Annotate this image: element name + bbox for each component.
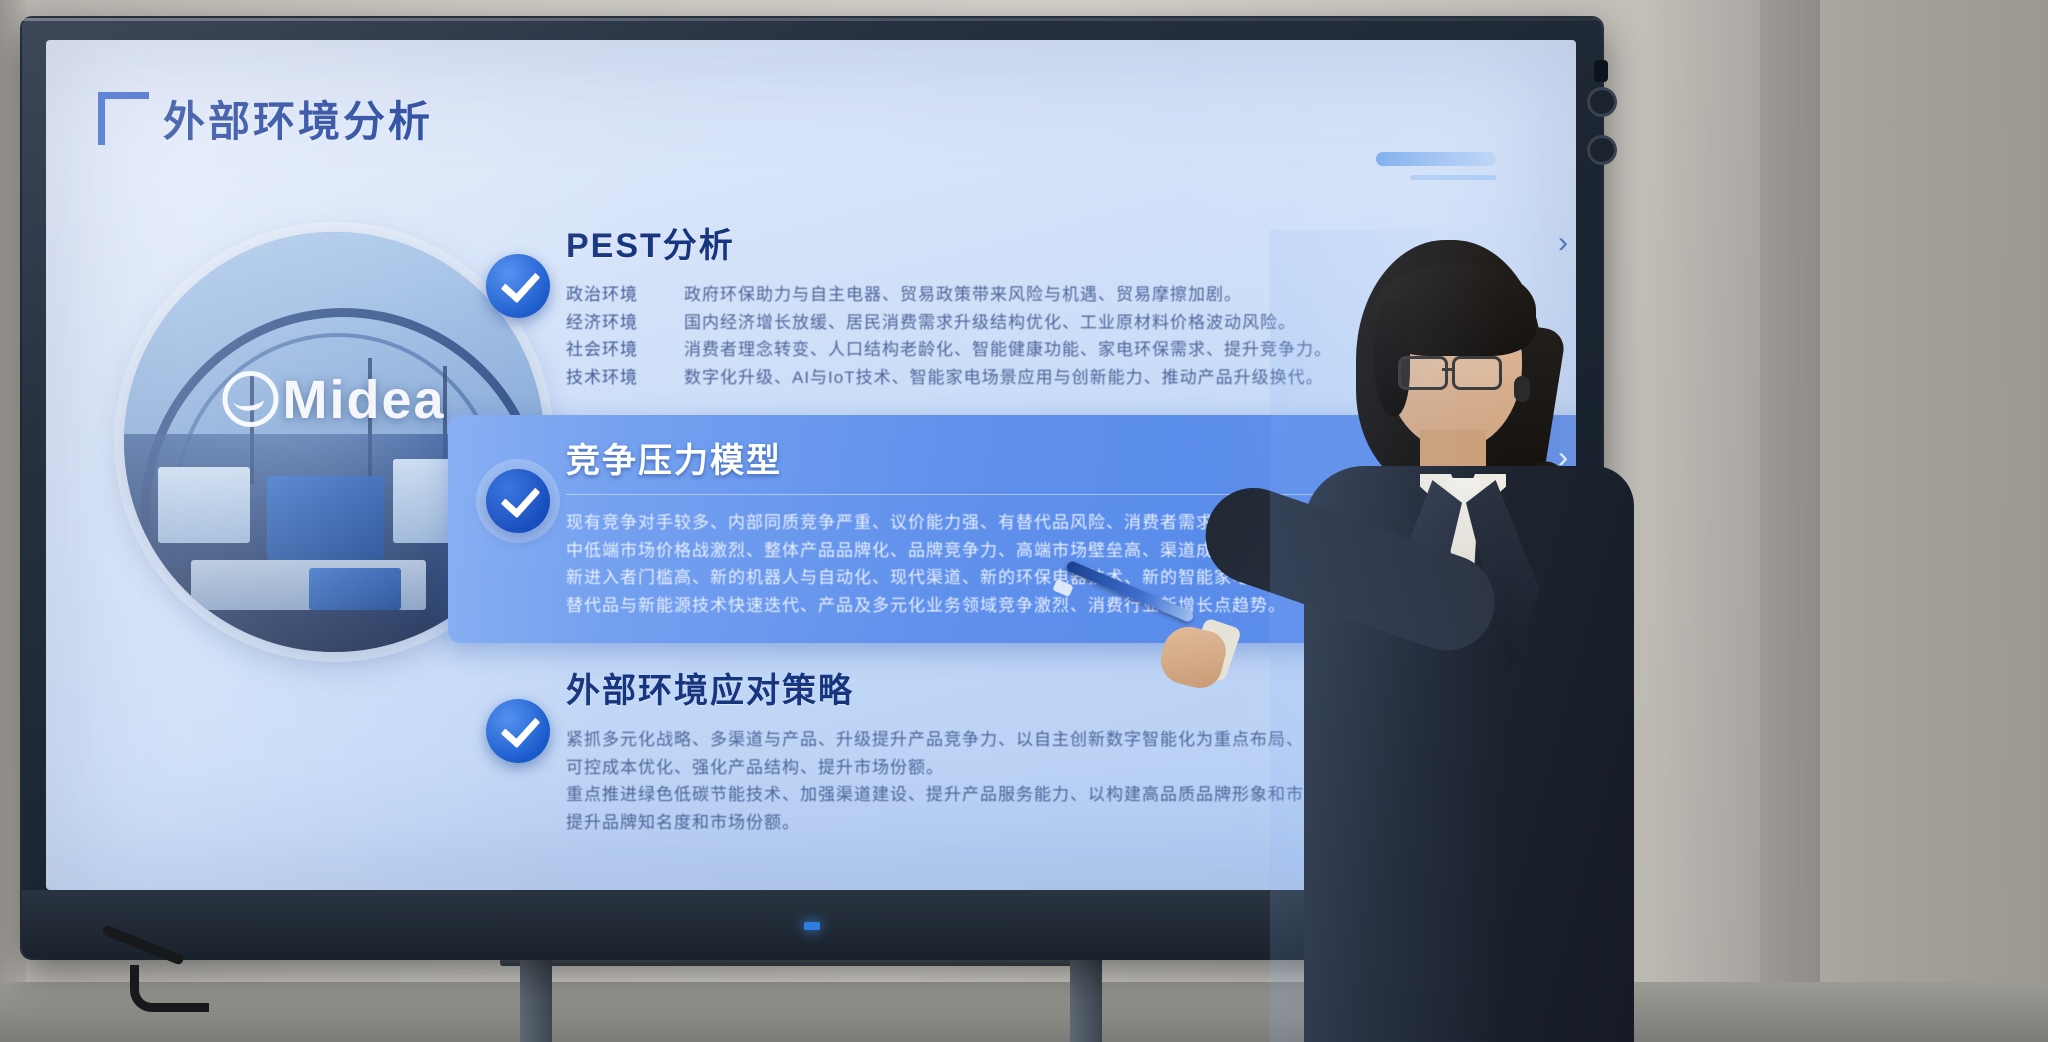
midea-mark-icon bbox=[222, 371, 278, 427]
row-label: 政治环境 bbox=[566, 281, 658, 309]
section-title: PEST分析 bbox=[566, 218, 735, 267]
glasses-bridge bbox=[1442, 368, 1454, 371]
glasses-right-lens bbox=[1452, 356, 1502, 390]
top-camera-icon bbox=[1594, 60, 1608, 82]
photo-booth-screen bbox=[267, 476, 385, 560]
row-label: 经济环境 bbox=[566, 309, 658, 337]
display-stand-leg-left bbox=[520, 958, 552, 1042]
brand-logo-text: Midea bbox=[282, 370, 445, 430]
power-indicator-icon[interactable] bbox=[804, 922, 820, 930]
floor bbox=[0, 982, 2048, 1042]
section-title: 外部环境应对策略 bbox=[566, 663, 854, 712]
corner-bracket-icon bbox=[98, 92, 149, 145]
presenter bbox=[1270, 230, 1700, 1042]
display-stand-leg-right bbox=[1070, 958, 1102, 1042]
slide-title-block: 外部环境分析 bbox=[98, 88, 433, 149]
check-circle-icon bbox=[486, 469, 550, 533]
earpiece-icon bbox=[1514, 376, 1530, 402]
room-scene: 外部环境分析 bbox=[0, 0, 2048, 1042]
photo-booth-screen bbox=[309, 568, 401, 610]
check-circle-icon bbox=[486, 699, 550, 763]
ir-sensor-top-icon bbox=[1590, 90, 1614, 114]
decor-pill bbox=[1376, 152, 1496, 166]
photo-booth bbox=[158, 467, 250, 543]
glasses-left-lens bbox=[1398, 356, 1448, 390]
check-circle-icon bbox=[486, 254, 550, 318]
row-label: 社会环境 bbox=[566, 336, 658, 364]
ir-sensor-bottom-icon bbox=[1590, 138, 1614, 162]
decor-pill-small bbox=[1410, 175, 1496, 180]
bezel-highlight bbox=[22, 18, 1602, 21]
brand-logo: Midea bbox=[222, 369, 445, 431]
page-title: 外部环境分析 bbox=[163, 88, 433, 149]
row-label: 技术环境 bbox=[566, 364, 658, 392]
floor-cable-bend bbox=[130, 965, 209, 1012]
section-title: 竞争压力模型 bbox=[566, 433, 782, 482]
